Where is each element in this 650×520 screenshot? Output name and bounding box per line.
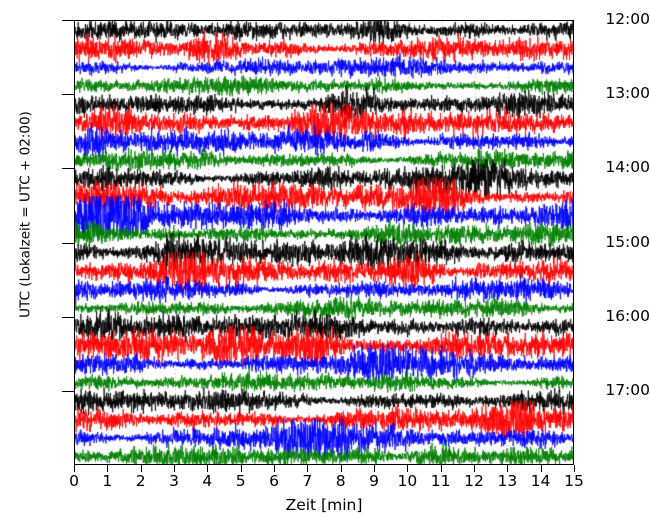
x-tick-mark [307, 465, 308, 472]
y-tick-label: 16:00 [592, 309, 650, 325]
x-tick-mark [541, 465, 542, 472]
y-tick-label: 14:00 [592, 160, 650, 176]
y-axis-label: UTC (Lokalzeit = UTC + 02:00) [18, 111, 34, 318]
x-tick-mark [574, 465, 575, 472]
y-axis-label-wrapper: UTC (Lokalzeit = UTC + 02:00) [15, 5, 34, 425]
y-tick-label: 13:00 [592, 86, 650, 102]
y-tick-label: 17:00 [592, 383, 650, 399]
y-tick-label: 15:00 [592, 235, 650, 251]
y-tick-mark [62, 168, 74, 169]
x-tick-mark [107, 465, 108, 472]
x-tick-mark [374, 465, 375, 472]
seismogram-figure: UTC (Lokalzeit = UTC + 02:00) 12:0013:00… [0, 0, 650, 520]
y-tick-label: 12:00 [592, 12, 650, 28]
x-tick-label: 15 [554, 474, 594, 490]
y-tick-mark [62, 94, 74, 95]
x-axis-label: Zeit [min] [74, 496, 574, 514]
y-tick-mark [62, 317, 74, 318]
y-tick-mark [62, 20, 74, 21]
y-tick-mark [62, 243, 74, 244]
seismogram-canvas [75, 21, 574, 465]
plot-area [74, 20, 574, 465]
x-tick-mark [274, 465, 275, 472]
x-tick-mark [74, 465, 75, 472]
x-tick-mark [241, 465, 242, 472]
x-tick-mark [507, 465, 508, 472]
x-tick-mark [207, 465, 208, 472]
x-tick-mark [341, 465, 342, 472]
x-tick-mark [174, 465, 175, 472]
x-tick-mark [141, 465, 142, 472]
y-tick-mark [62, 391, 74, 392]
x-tick-mark [441, 465, 442, 472]
x-tick-mark [407, 465, 408, 472]
x-tick-mark [474, 465, 475, 472]
